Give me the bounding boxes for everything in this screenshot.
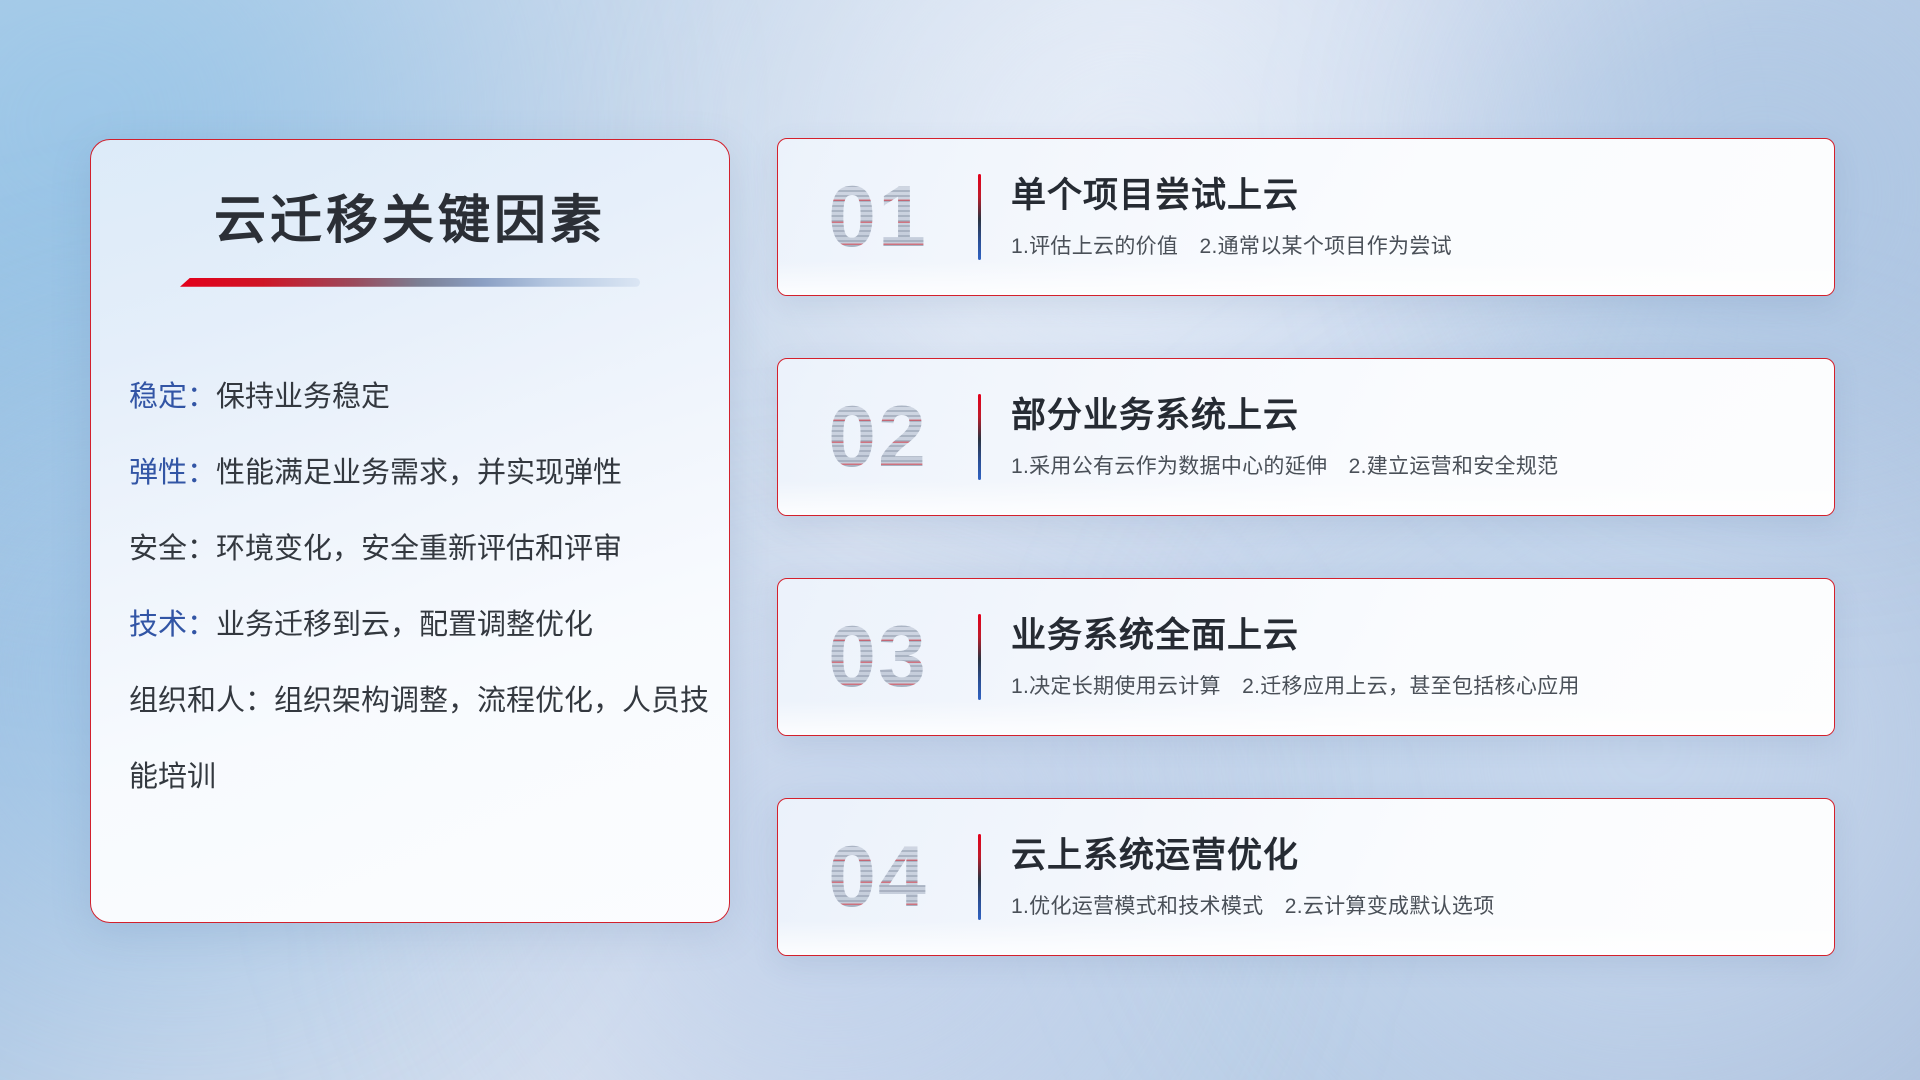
stage-body: 云上系统运营优化1.优化运营模式和技术模式 2.云计算变成默认选项 — [1011, 834, 1834, 920]
stage-number: 0303 — [778, 608, 978, 707]
factor-item: 弹性：性能满足业务需求，并实现弹性 — [129, 435, 729, 511]
factor-label: 组织和人： — [129, 685, 274, 717]
stage-body: 单个项目尝试上云1.评估上云的价值 2.通常以某个项目作为尝试 — [1011, 174, 1834, 260]
stage-subtitle: 1.采用公有云作为数据中心的延伸 2.建立运营和安全规范 — [1011, 450, 1800, 480]
stage-divider-bar — [978, 834, 981, 920]
stage-number: 0404 — [778, 828, 978, 927]
stage-subtitle: 1.评估上云的价值 2.通常以某个项目作为尝试 — [1011, 230, 1800, 260]
stage-card[interactable]: 0404云上系统运营优化1.优化运营模式和技术模式 2.云计算变成默认选项 — [777, 798, 1835, 956]
stage-subtitle: 1.决定长期使用云计算 2.迁移应用上云，甚至包括核心应用 — [1011, 670, 1800, 700]
title-underline-rule — [180, 278, 640, 287]
stage-card[interactable]: 0303业务系统全面上云1.决定长期使用云计算 2.迁移应用上云，甚至包括核心应… — [777, 578, 1835, 736]
stage-title: 云上系统运营优化 — [1011, 834, 1800, 878]
stage-number-tint: 04 — [778, 828, 978, 927]
stage-title: 业务系统全面上云 — [1011, 614, 1800, 658]
factor-label: 技术： — [129, 609, 216, 641]
factor-item: 组织和人：组织架构调整，流程优化，人员技能培训 — [129, 663, 729, 815]
factor-item: 稳定：保持业务稳定 — [129, 359, 729, 435]
factor-label: 稳定： — [129, 381, 216, 413]
factor-item: 安全：环境变化，安全重新评估和评审 — [129, 511, 729, 587]
page-title: 云迁移关键因素 — [91, 192, 729, 252]
key-factors-panel: 云迁移关键因素 稳定：保持业务稳定弹性：性能满足业务需求，并实现弹性安全：环境变… — [90, 139, 730, 923]
stage-divider-bar — [978, 614, 981, 700]
stage-divider-bar — [978, 174, 981, 260]
stage-body: 部分业务系统上云1.采用公有云作为数据中心的延伸 2.建立运营和安全规范 — [1011, 394, 1834, 480]
stage-number-tint: 03 — [778, 608, 978, 707]
migration-stage-list: 0101单个项目尝试上云1.评估上云的价值 2.通常以某个项目作为尝试0202部… — [777, 138, 1835, 1018]
factor-text: 业务迁移到云，配置调整优化 — [216, 609, 593, 641]
stage-title: 部分业务系统上云 — [1011, 394, 1800, 438]
stage-card[interactable]: 0202部分业务系统上云1.采用公有云作为数据中心的延伸 2.建立运营和安全规范 — [777, 358, 1835, 516]
stage-number: 0101 — [778, 168, 978, 267]
stage-number-tint: 01 — [778, 168, 978, 267]
factor-label: 安全： — [129, 533, 216, 565]
stage-number: 0202 — [778, 388, 978, 487]
stage-number-tint: 02 — [778, 388, 978, 487]
stage-subtitle: 1.优化运营模式和技术模式 2.云计算变成默认选项 — [1011, 890, 1800, 920]
stage-title: 单个项目尝试上云 — [1011, 174, 1800, 218]
stage-card[interactable]: 0101单个项目尝试上云1.评估上云的价值 2.通常以某个项目作为尝试 — [777, 138, 1835, 296]
factor-text: 性能满足业务需求，并实现弹性 — [216, 457, 622, 489]
factor-item: 技术：业务迁移到云，配置调整优化 — [129, 587, 729, 663]
factor-list: 稳定：保持业务稳定弹性：性能满足业务需求，并实现弹性安全：环境变化，安全重新评估… — [129, 359, 729, 815]
factor-text: 保持业务稳定 — [216, 381, 390, 413]
stage-body: 业务系统全面上云1.决定长期使用云计算 2.迁移应用上云，甚至包括核心应用 — [1011, 614, 1834, 700]
factor-text: 环境变化，安全重新评估和评审 — [216, 533, 622, 565]
factor-label: 弹性： — [129, 457, 216, 489]
stage-divider-bar — [978, 394, 981, 480]
